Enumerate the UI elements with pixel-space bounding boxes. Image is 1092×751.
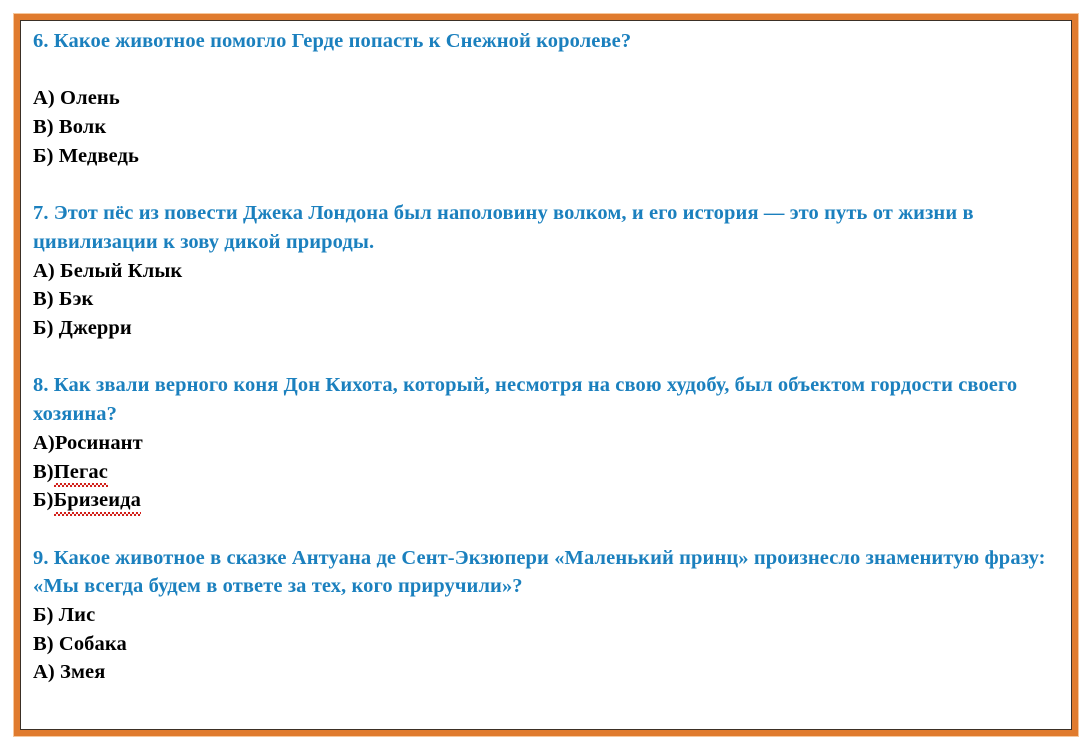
- answer-option-7-v[interactable]: В) Бэк: [33, 285, 1064, 314]
- answer-option-7-a[interactable]: А) Белый Клык: [33, 257, 1064, 286]
- slide-orange-frame: 6. Какое животное помогло Герде попасть …: [14, 14, 1078, 736]
- question-block-9: 9. Какое животное в сказке Антуана де Се…: [33, 544, 1064, 688]
- slide-canvas: 6. Какое животное помогло Герде попасть …: [0, 0, 1092, 751]
- question-block-8: 8. Как звали верного коня Дон Кихота, ко…: [33, 371, 1064, 515]
- answer-option-8-b-prefix: Б): [33, 489, 54, 511]
- quiz-content: 6. Какое животное помогло Герде попасть …: [33, 27, 1064, 726]
- answer-option-8-v[interactable]: В)Пегас: [33, 458, 1064, 487]
- answer-option-9-b[interactable]: Б) Лис: [33, 601, 1064, 630]
- question-text-7: 7. Этот пёс из повести Джека Лондона был…: [33, 199, 1064, 256]
- answer-option-6-b[interactable]: Б) Медведь: [33, 142, 1064, 171]
- spacer-between-7-and-8: [33, 343, 1064, 372]
- answer-option-7-b[interactable]: Б) Джерри: [33, 314, 1064, 343]
- answer-option-6-a[interactable]: А) Олень: [33, 84, 1064, 113]
- answer-option-8-a[interactable]: А)Росинант: [33, 429, 1064, 458]
- spacer-between-6-and-7: [33, 171, 1064, 200]
- answer-option-8-b-misspelled-word: Бризеида: [54, 486, 141, 515]
- answer-option-8-v-prefix: В): [33, 461, 54, 483]
- spacer-after-question-6: [33, 56, 1064, 85]
- spacer-between-8-and-9: [33, 515, 1064, 544]
- answer-option-6-v[interactable]: В) Волк: [33, 113, 1064, 142]
- question-block-7: 7. Этот пёс из повести Джека Лондона был…: [33, 199, 1064, 343]
- answer-option-9-v[interactable]: В) Собака: [33, 630, 1064, 659]
- answer-option-8-v-misspelled-word: Пегас: [54, 458, 108, 487]
- answer-option-8-b[interactable]: Б)Бризеида: [33, 486, 1064, 515]
- question-text-9: 9. Какое животное в сказке Антуана де Се…: [33, 544, 1064, 601]
- question-text-8: 8. Как звали верного коня Дон Кихота, ко…: [33, 371, 1064, 428]
- question-text-6: 6. Какое животное помогло Герде попасть …: [33, 27, 1064, 56]
- question-block-6: 6. Какое животное помогло Герде попасть …: [33, 27, 1064, 171]
- answer-option-9-a[interactable]: А) Змея: [33, 658, 1064, 687]
